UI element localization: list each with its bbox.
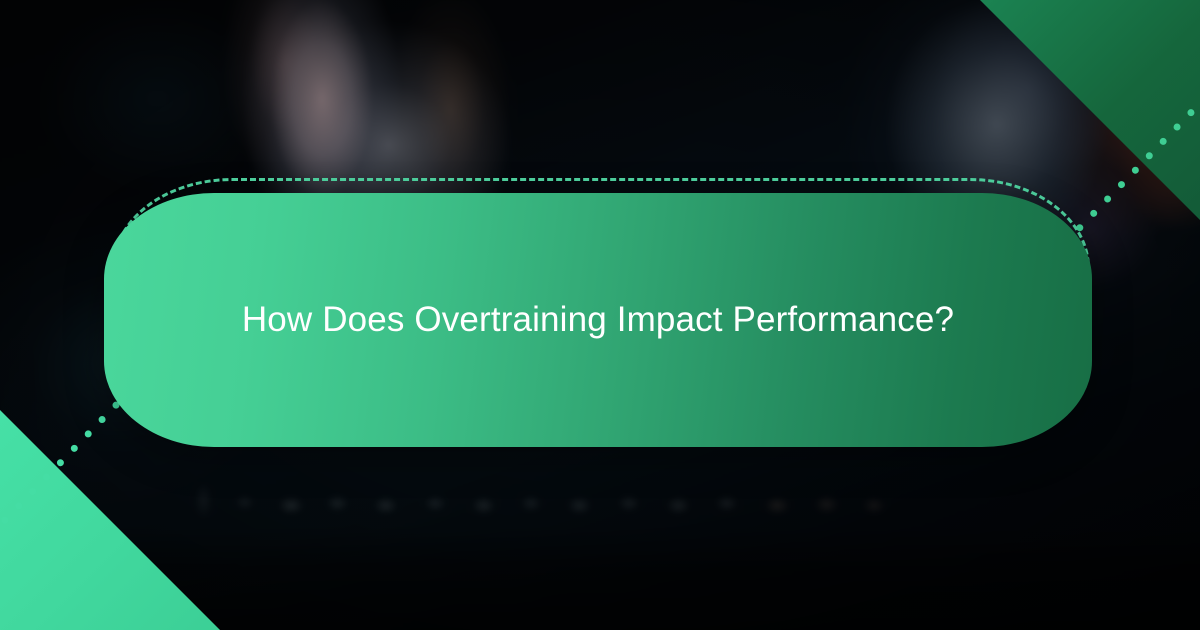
decorative-dot: [1158, 136, 1168, 146]
decorative-dot: [55, 458, 65, 468]
decorative-dot: [69, 443, 79, 453]
decorative-dot: [1186, 108, 1196, 118]
decorative-dot: [97, 415, 107, 425]
decorative-dot: [83, 429, 93, 439]
decorative-dot: [0, 515, 10, 525]
title-card: How Does Overtraining Impact Performance…: [104, 193, 1092, 447]
decorative-dot: [28, 487, 38, 497]
decorative-dot: [1144, 151, 1154, 161]
decorative-dot: [1172, 122, 1182, 132]
decorative-dot: [1117, 180, 1127, 190]
decorative-dot: [1130, 165, 1140, 175]
decorative-dot: [42, 472, 52, 482]
social-share-banner: How Does Overtraining Impact Performance…: [0, 0, 1200, 630]
decorative-dot: [1089, 208, 1099, 218]
decorative-dot: [1103, 194, 1113, 204]
decorative-dot: [14, 501, 24, 511]
page-title: How Does Overtraining Impact Performance…: [182, 298, 1014, 341]
